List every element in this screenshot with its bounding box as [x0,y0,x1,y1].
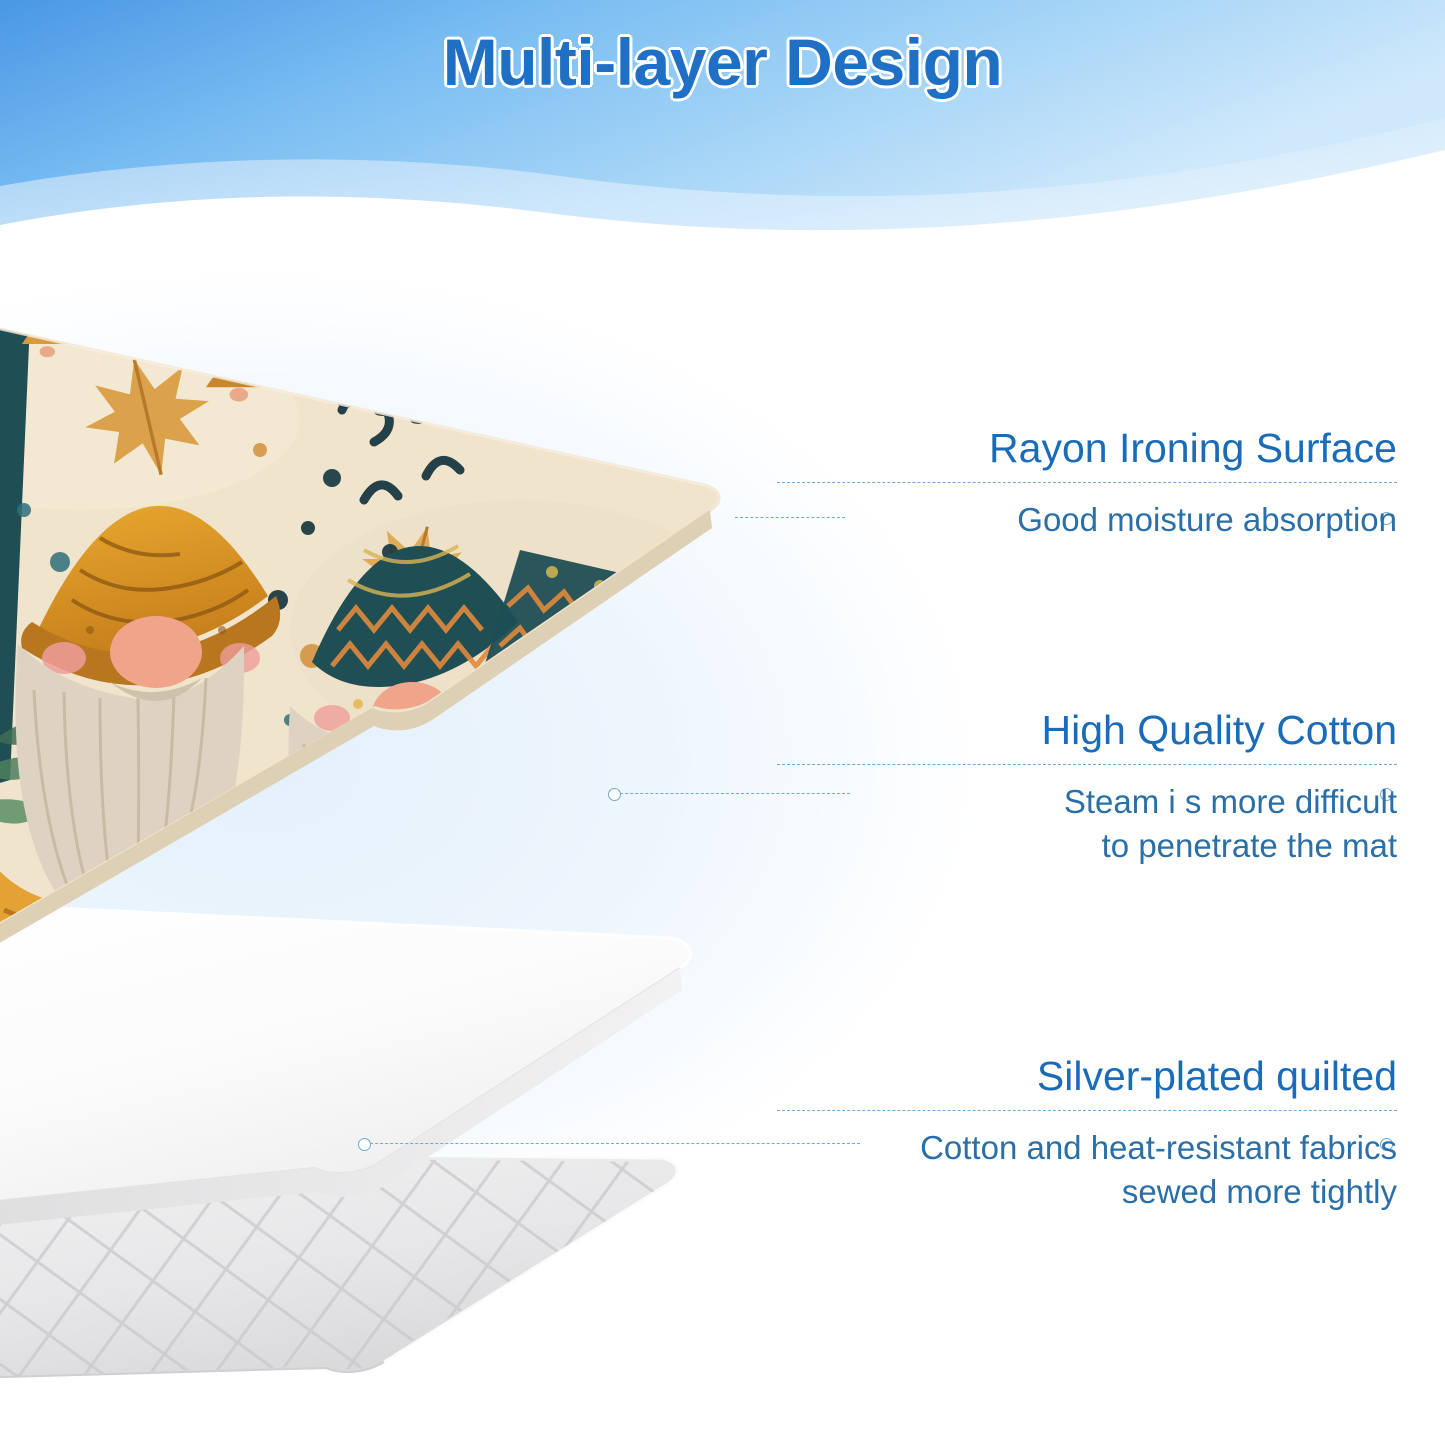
feature-3-divider [777,1110,1397,1112]
feature-2-divider [777,764,1397,766]
header-banner: Multi-layer Design [0,0,1445,250]
feature-2-title: High Quality Cotton [777,706,1397,754]
layer-stack-illustration [0,300,780,1380]
feature-3-description: Cotton and heat-resistant fabrics sewed … [777,1126,1397,1213]
feature-rayon-ironing-surface: Rayon Ironing Surface Good moisture abso… [777,424,1397,542]
feature-1-title: Rayon Ironing Surface [777,424,1397,472]
feature-3-title: Silver-plated quilted [777,1052,1397,1100]
feature-high-quality-cotton: High Quality Cotton Steam i s more diffi… [777,706,1397,867]
page-title: Multi-layer Design [0,24,1445,100]
product-infographic: Multi-layer Design [0,0,1445,1445]
connector-dot-3-left [358,1138,371,1151]
connector-dot-2-left [608,788,621,801]
feature-silver-plated-quilted: Silver-plated quilted Cotton and heat-re… [777,1052,1397,1213]
feature-1-description: Good moisture absorption [777,498,1397,542]
feature-2-description: Steam i s more difficult to penetrate th… [777,780,1397,867]
feature-1-divider [777,482,1397,484]
